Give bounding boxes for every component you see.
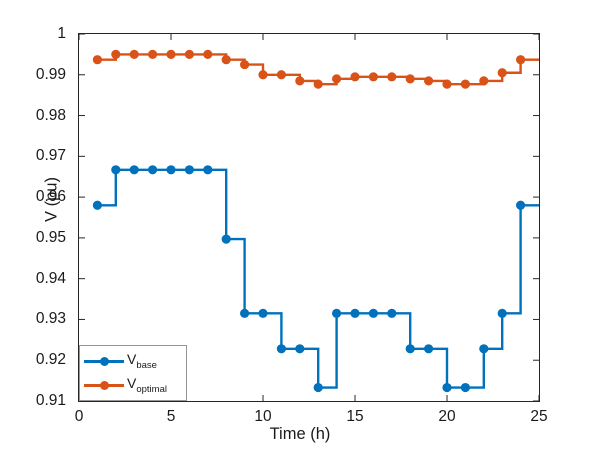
legend-item-v-optimal[interactable]: Voptimal: [84, 373, 182, 397]
data-point: [443, 80, 451, 88]
data-point: [222, 56, 230, 64]
data-point: [517, 201, 525, 209]
data-point: [388, 309, 396, 317]
x-tick-label: 10: [243, 409, 283, 425]
chart-figure: 0.910.920.930.940.950.960.970.980.991 V …: [0, 0, 600, 450]
data-point: [241, 60, 249, 68]
data-point: [388, 73, 396, 81]
data-point: [369, 73, 377, 81]
data-point: [93, 56, 101, 64]
data-point: [369, 309, 377, 317]
data-point: [314, 80, 322, 88]
y-tick-label: 0.98: [0, 108, 66, 124]
y-tick-label: 0.93: [0, 311, 66, 327]
data-point: [204, 166, 212, 174]
x-tick-label: 5: [151, 409, 191, 425]
y-tick-label: 0.92: [0, 352, 66, 368]
data-point: [185, 50, 193, 58]
data-point: [259, 309, 267, 317]
data-point: [333, 309, 341, 317]
y-tick-label: 0.91: [0, 393, 66, 409]
data-point: [241, 309, 249, 317]
y-tick-label: 0.94: [0, 271, 66, 287]
data-point: [425, 77, 433, 85]
data-point: [112, 50, 120, 58]
data-point: [259, 71, 267, 79]
x-tick-label: 20: [427, 409, 467, 425]
data-point: [277, 345, 285, 353]
data-point: [149, 166, 157, 174]
data-point: [480, 345, 488, 353]
data-point: [314, 383, 322, 391]
data-point: [461, 383, 469, 391]
data-point: [461, 80, 469, 88]
data-point: [406, 345, 414, 353]
data-point: [443, 383, 451, 391]
data-point: [277, 71, 285, 79]
data-point: [93, 201, 101, 209]
chart-legend: Vbase Voptimal: [79, 345, 187, 401]
data-point: [185, 166, 193, 174]
legend-label-v-base: Vbase: [127, 351, 157, 371]
data-point: [296, 77, 304, 85]
legend-swatch-v-base: [84, 354, 124, 368]
data-point: [480, 77, 488, 85]
x-tick-label: 0: [59, 409, 99, 425]
data-point: [351, 73, 359, 81]
legend-swatch-v-optimal: [84, 378, 124, 392]
y-axis-title: V (pu): [43, 140, 62, 260]
legend-label-v-optimal: Voptimal: [127, 375, 167, 395]
data-point: [149, 50, 157, 58]
x-tick-label: 15: [335, 409, 375, 425]
data-point: [130, 50, 138, 58]
data-point: [333, 75, 341, 83]
data-point: [296, 345, 304, 353]
data-point: [425, 345, 433, 353]
data-point: [406, 75, 414, 83]
data-point: [112, 166, 120, 174]
data-point: [204, 50, 212, 58]
data-point: [351, 309, 359, 317]
legend-item-v-base[interactable]: Vbase: [84, 349, 182, 373]
data-point: [167, 166, 175, 174]
series-v-optimal: [93, 50, 539, 88]
data-point: [130, 166, 138, 174]
x-axis-title: Time (h): [0, 425, 600, 444]
data-point: [167, 50, 175, 58]
data-point: [498, 309, 506, 317]
y-tick-label: 0.99: [0, 67, 66, 83]
data-point: [498, 69, 506, 77]
y-tick-label: 1: [0, 26, 66, 42]
x-tick-label: 25: [519, 409, 559, 425]
data-point: [222, 235, 230, 243]
data-point: [517, 56, 525, 64]
